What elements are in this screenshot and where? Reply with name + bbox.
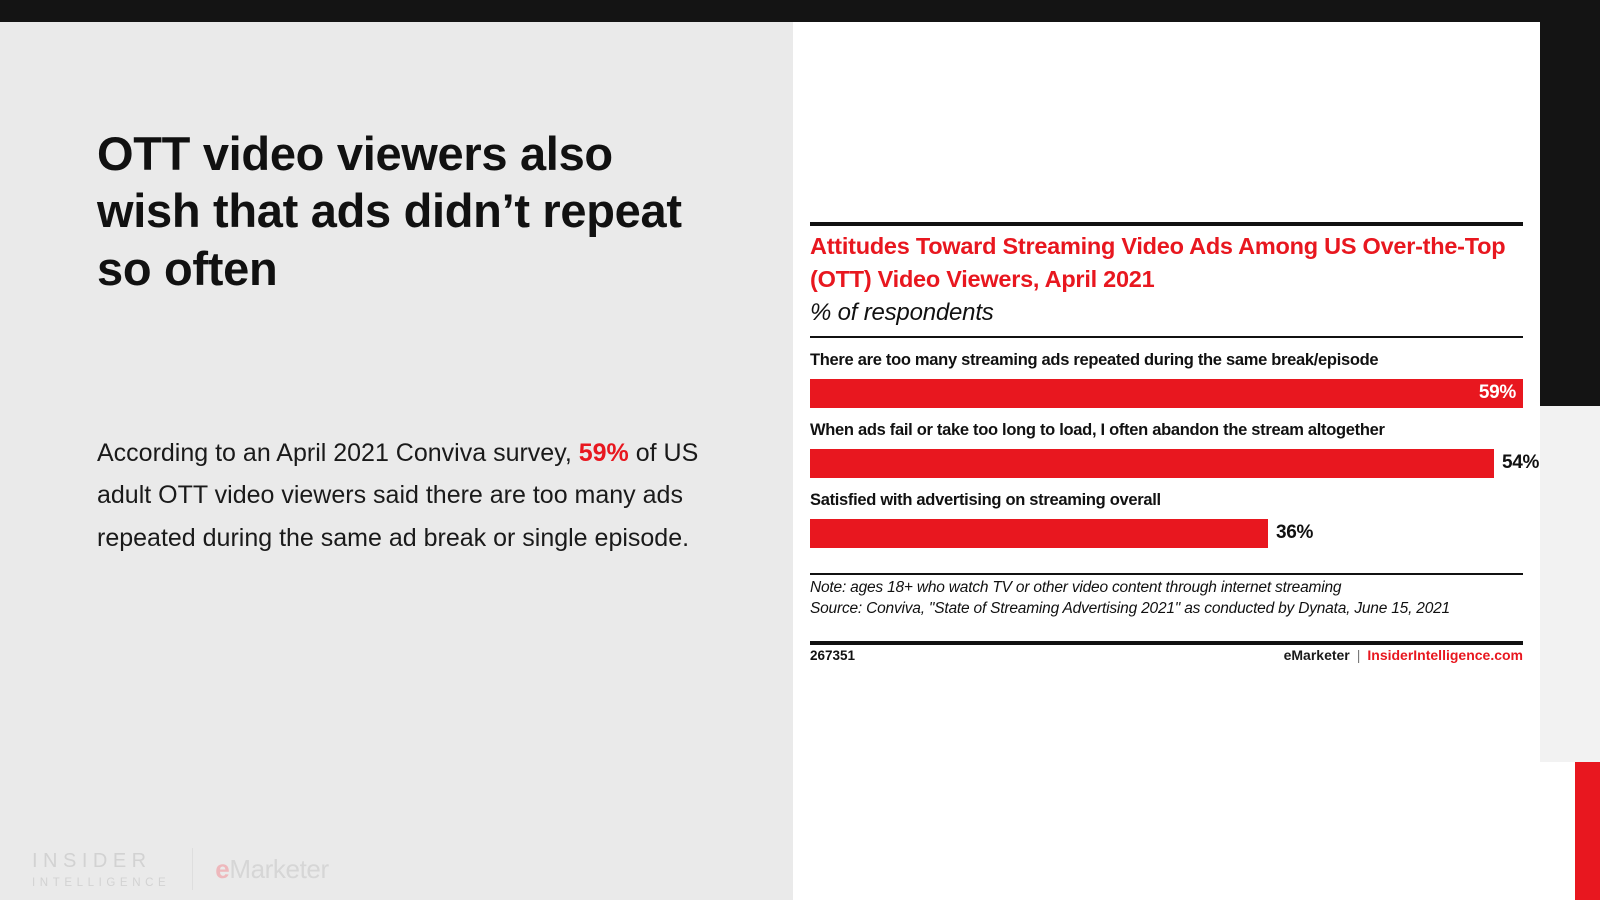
slide-canvas: OTT video viewers also wish that ads did… [0,0,1600,900]
chart-note: Note: ages 18+ who watch TV or other vid… [810,578,1526,599]
emarketer-logo: eMarketer [215,854,328,885]
insider-logo-line-2: INTELLIGENCE [32,877,170,889]
bar-track: 54% [810,449,1526,478]
bar-group: Satisfied with advertising on streaming … [810,492,1526,562]
body-copy-prefix: According to an April 2021 Conviva surve… [97,439,579,467]
right-edge-black-band [1540,0,1600,406]
slide-body-copy: According to an April 2021 Conviva surve… [97,432,712,559]
chart-footnotes: Note: ages 18+ who watch TV or other vid… [810,578,1526,619]
bar-group: When ads fail or take too long to load, … [810,422,1526,492]
right-edge-gray-band [1540,406,1600,762]
subtitle-bottom-rule [810,336,1523,338]
bar-track: 36% [810,519,1526,548]
bar-track: 59% [810,379,1526,408]
footer-top-rule [810,641,1523,645]
emarketer-logo-e: e [215,854,229,884]
logo-divider [192,848,193,890]
bar-value-label: 59% [1479,379,1516,408]
body-copy-highlight: 59% [579,439,629,467]
chart-title: Attitudes Toward Streaming Video Ads Amo… [810,230,1526,297]
note-top-rule [810,573,1523,575]
bar-fill [810,519,1268,548]
right-edge-red-block [1575,762,1600,900]
emarketer-logo-rest: Marketer [229,854,328,884]
chart-subtitle: % of respondents [810,299,994,327]
title-top-rule [810,222,1523,226]
footer-brand-lockup: eMarketer | InsiderIntelligence.com [1284,647,1523,663]
slide-headline: OTT video viewers also wish that ads did… [97,125,717,297]
footer-separator: | [1357,647,1361,663]
bar-value-label: 54% [1502,449,1539,478]
bar-value-label: 36% [1276,519,1313,548]
bar-fill [810,379,1523,408]
chart-footer: 267351 eMarketer | InsiderIntelligence.c… [810,647,1523,663]
bar-group: There are too many streaming ads repeate… [810,352,1526,422]
top-black-bar [0,0,1600,22]
insider-logo-line-1: INSIDER [32,850,170,873]
bar-chart-plot-area: There are too many streaming ads repeate… [810,352,1526,562]
bar-label: When ads fail or take too long to load, … [810,422,1526,439]
bar-label: Satisfied with advertising on streaming … [810,492,1526,509]
bar-label: There are too many streaming ads repeate… [810,352,1526,369]
left-text-panel: OTT video viewers also wish that ads did… [0,22,793,900]
bar-fill [810,449,1494,478]
insider-intelligence-logo: INSIDER INTELLIGENCE [32,850,170,889]
footer-url[interactable]: InsiderIntelligence.com [1367,647,1523,663]
chart-source: Source: Conviva, "State of Streaming Adv… [810,599,1526,620]
footer-brand-name: eMarketer [1284,647,1350,663]
chart-id: 267351 [810,648,855,663]
brand-logo-lockup: INSIDER INTELLIGENCE eMarketer [32,848,329,890]
